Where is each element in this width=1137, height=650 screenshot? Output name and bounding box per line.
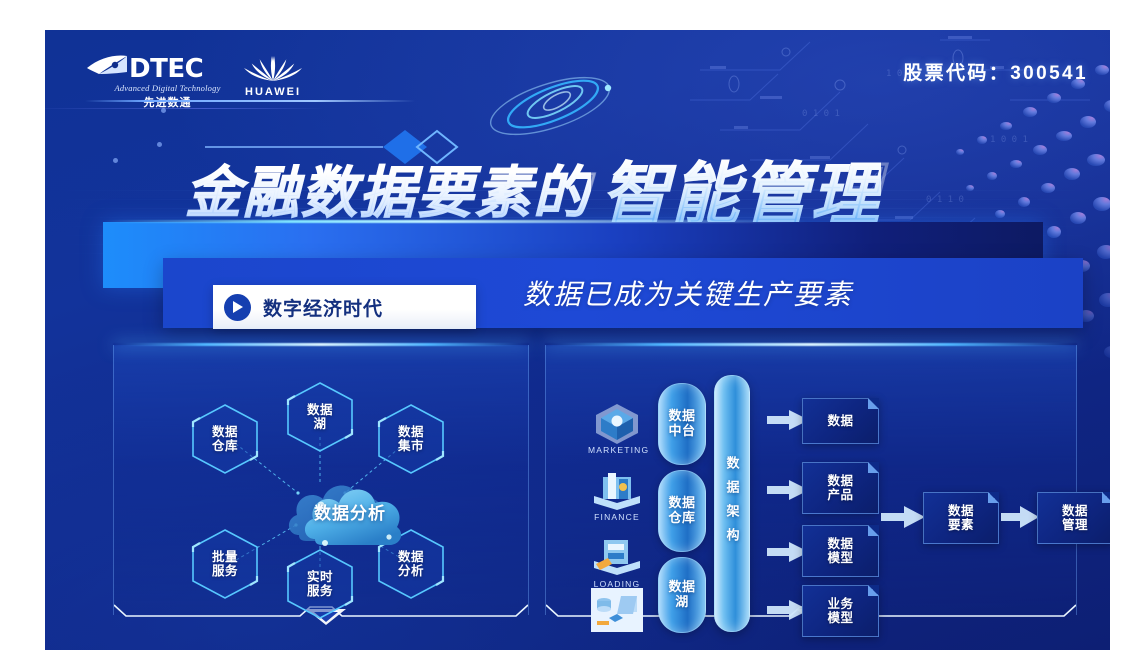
- header-divider-line: [85, 100, 415, 102]
- play-icon: [224, 294, 251, 321]
- svg-text:DTEC: DTEC: [129, 54, 203, 82]
- hex-node-label: 数据仓库: [188, 402, 262, 476]
- section-badge-label: 数字经济时代: [263, 294, 383, 321]
- pillar-data-lake[interactable]: 数据湖: [658, 557, 706, 633]
- pillar-data-midplatform[interactable]: 数据中台: [658, 383, 706, 465]
- screenshot-root: 0 1 0 11 0 1 0 1 1 01 0 0 1: [0, 0, 1137, 650]
- header-divider-line-secondary: [45, 108, 325, 109]
- cloud-center-label: 数据分析: [285, 465, 405, 557]
- stage-card-label: 数据要素: [948, 504, 974, 533]
- pillar-label: 数据中台: [668, 409, 695, 438]
- pillar-data-warehouse[interactable]: 数据仓库: [658, 470, 706, 552]
- bank-building-icon: [588, 467, 646, 511]
- stage-card-data-element[interactable]: 数据要素: [923, 492, 999, 544]
- hex-node-data-lake[interactable]: 数据湖: [283, 380, 357, 454]
- page-title-part1: 金融数据要素的: [185, 148, 591, 229]
- hex-node-label: 数据湖: [283, 380, 357, 454]
- svg-text:0 1 0 1: 0 1 0 1: [802, 109, 840, 119]
- dtec-wordmark-icon: DTEC: [85, 52, 250, 82]
- orbit-swirl-decoration: [475, 68, 625, 146]
- output-card-data[interactable]: 数据: [802, 398, 879, 444]
- hex-node-data-warehouse[interactable]: 数据仓库: [188, 402, 262, 476]
- cube-box-icon: [588, 400, 646, 444]
- output-card-data-model[interactable]: 数据模型: [802, 525, 879, 577]
- source-marketing[interactable]: MARKETING: [588, 400, 646, 455]
- source-data-screen[interactable]: [588, 588, 646, 633]
- data-screen-icon: [591, 588, 643, 632]
- hex-node-label: 实时服务: [283, 547, 357, 621]
- output-card-label: 数据: [827, 414, 853, 428]
- output-card-business-model[interactable]: 业务模型: [802, 585, 879, 637]
- source-loading[interactable]: LOADING: [588, 534, 646, 589]
- source-caption: MARKETING: [588, 445, 646, 455]
- hex-node-batch-service[interactable]: 批量服务: [188, 527, 262, 601]
- hex-node-label: 批量服务: [188, 527, 262, 601]
- arrow-right-icon: [881, 504, 925, 530]
- dtec-tagline: Advanced Digital Technology: [85, 83, 250, 93]
- huawei-logo: HUAWEI: [230, 53, 316, 98]
- pillar-label: 数据仓库: [668, 496, 695, 525]
- huawei-flower-icon: [230, 53, 316, 83]
- stage-card-data-management[interactable]: 数据管理: [1037, 492, 1110, 544]
- server-load-icon: [588, 534, 646, 578]
- section-badge[interactable]: 数字经济时代: [213, 285, 476, 329]
- pillar-label: 数据湖: [668, 580, 695, 609]
- data-architecture-spine[interactable]: 数据架构: [714, 375, 750, 632]
- stage-card-label: 数据管理: [1062, 504, 1088, 533]
- presentation-slide: 0 1 0 11 0 1 0 1 1 01 0 0 1: [45, 30, 1110, 650]
- data-architecture-label: 数据架构: [723, 456, 742, 552]
- output-card-label: 数据产品: [827, 474, 853, 503]
- arrow-right-icon: [1001, 504, 1039, 530]
- svg-text:0 1 1 0: 0 1 1 0: [926, 195, 964, 205]
- output-card-data-product[interactable]: 数据产品: [802, 462, 879, 514]
- huawei-wordmark: HUAWEI: [230, 86, 316, 98]
- page-title: 金融数据要素的 智能管理: [185, 148, 881, 228]
- source-caption: FINANCE: [588, 512, 646, 522]
- svg-text:1 0 0 1: 1 0 0 1: [990, 135, 1028, 145]
- cloud-center-node[interactable]: 数据分析: [285, 465, 405, 557]
- source-finance[interactable]: FINANCE: [588, 467, 646, 522]
- output-card-label: 业务模型: [827, 597, 853, 626]
- hex-node-realtime-service[interactable]: 实时服务: [283, 547, 357, 621]
- stock-code-label: 股票代码：300541: [903, 58, 1088, 85]
- output-card-label: 数据模型: [827, 537, 853, 566]
